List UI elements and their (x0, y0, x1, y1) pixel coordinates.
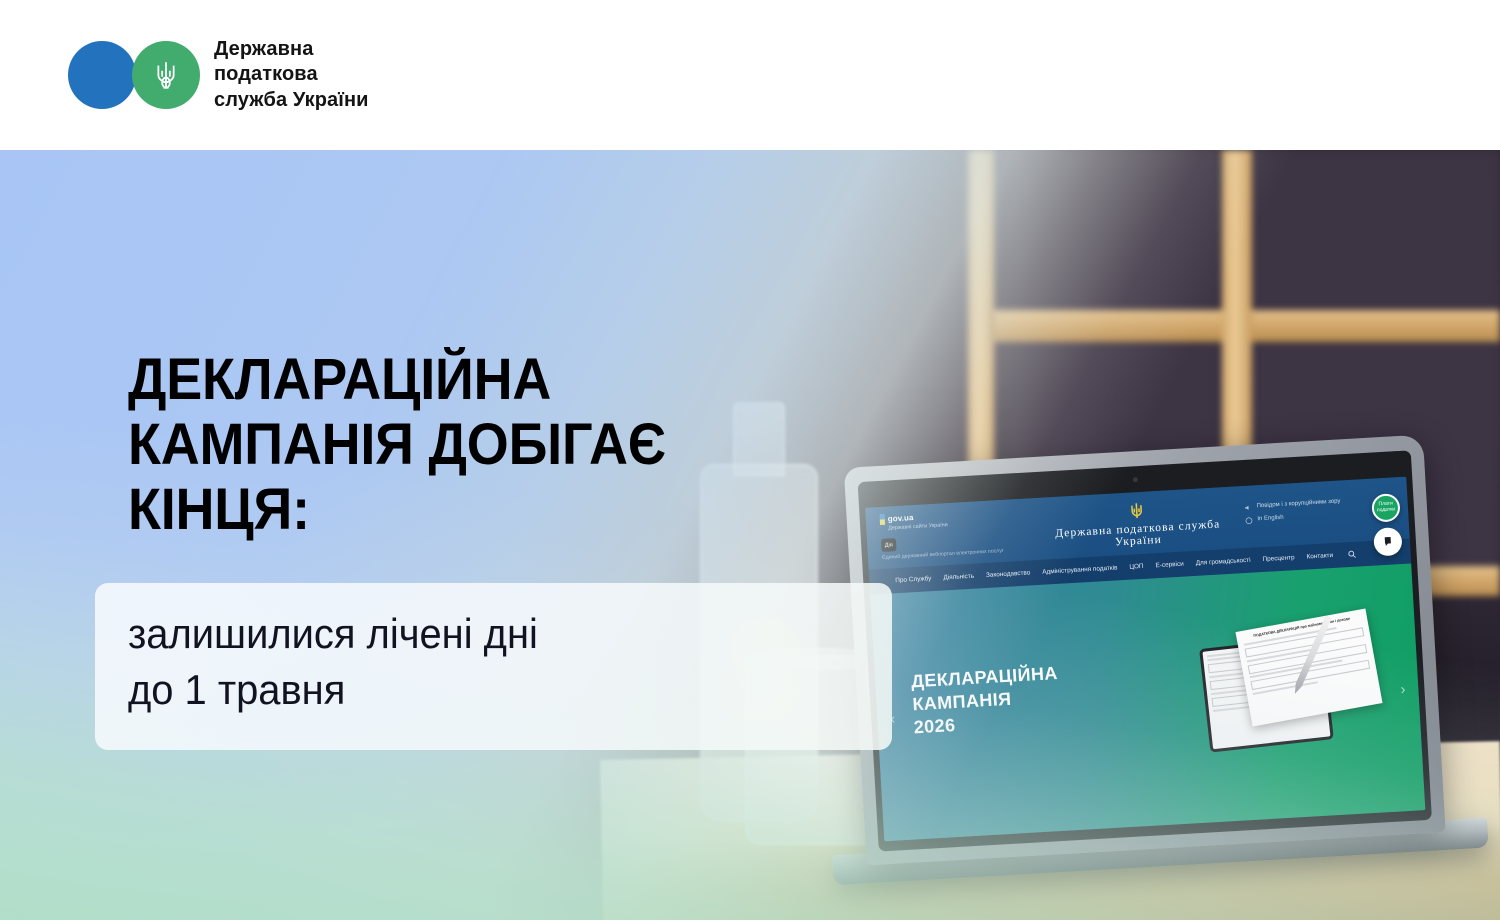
laptop-lid: gov.ua Державні сайти України Дія Єдиний… (844, 435, 1446, 866)
nav-item-contacts[interactable]: Контакти (1306, 552, 1333, 561)
gov-ua-label: gov.ua (888, 513, 914, 523)
report-corruption-label: Повідом і з корупційними зору (1256, 499, 1340, 512)
organization-logo: Державна податкова служба України (68, 37, 369, 114)
nav-item-public[interactable]: Для громадськості (1196, 557, 1251, 567)
shelf-compartment (1010, 150, 1220, 312)
nav-item-presscenter[interactable]: Пресцентр (1262, 554, 1294, 563)
nav-item-cop[interactable]: ЦОП (1129, 563, 1144, 571)
page-subtitle: залишилися лічені дні до 1 травня (128, 606, 850, 719)
globe-icon (1244, 516, 1253, 525)
logo-marks (68, 41, 200, 109)
organization-name: Державна податкова служба України (214, 37, 369, 114)
megaphone-icon (1243, 504, 1252, 513)
logo-green-circle-icon (132, 41, 200, 109)
nav-item-eservices[interactable]: Е-сервіси (1155, 561, 1184, 570)
pay-taxes-button[interactable]: Плати податки (1371, 493, 1401, 523)
diia-subtitle: Єдиний державний вебпортал електронних п… (882, 546, 1032, 561)
poster: Державна податкова служба України (0, 0, 1500, 920)
trident-icon (1128, 499, 1145, 521)
logo-blue-circle-icon (68, 41, 136, 109)
nav-item-about[interactable]: Про Службу (895, 575, 931, 584)
diia-badge[interactable]: Дія (881, 538, 897, 552)
ukraine-flag-icon (879, 514, 885, 525)
site-title: Державна податкова служба України (1031, 517, 1246, 553)
gov-block: gov.ua Державні сайти України Дія Єдиний… (879, 506, 1031, 562)
carousel-next-arrow[interactable]: › (1400, 682, 1406, 697)
laptop-bezel: gov.ua Державні сайти України Дія Єдиний… (858, 450, 1432, 851)
nav-item-administration[interactable]: Адміністрування податків (1042, 564, 1118, 575)
header-bar: Державна податкова служба України (0, 0, 1500, 150)
language-switch-label: In English (1257, 515, 1284, 524)
laptop-screen: gov.ua Державні сайти України Дія Єдиний… (865, 477, 1425, 842)
page-headline: ДЕКЛАРАЦІЙНА КАМПАНІЯ ДОБІГАЄ КІНЦЯ: (128, 348, 853, 543)
trident-icon (153, 58, 179, 92)
shelf-compartment (1250, 150, 1500, 312)
site-title-block: Державна податкова служба України (1029, 494, 1245, 553)
nav-item-activity[interactable]: Діяльність (943, 573, 974, 582)
webcam-icon (1132, 477, 1137, 482)
hero-illustration: ПОДАТКОВА ДЕКЛАРАЦІЯ про майновий стан і… (1194, 607, 1392, 758)
nav-item-legislation[interactable]: Законодавство (986, 569, 1031, 579)
laptop: gov.ua Державні сайти України Дія Єдиний… (844, 433, 1468, 897)
hero-banner-title: ДЕКЛАРАЦІЙНА КАМПАНІЯ 2026 (911, 662, 1061, 739)
floating-action-buttons: Плати податки (1371, 493, 1403, 557)
sign-language-button[interactable] (1373, 527, 1403, 557)
sign-language-icon (1381, 534, 1396, 549)
search-icon[interactable] (1347, 550, 1357, 560)
site-hero-banner: ДЕКЛАРАЦІЙНА КАМПАНІЯ 2026 ‹ › (870, 563, 1425, 841)
